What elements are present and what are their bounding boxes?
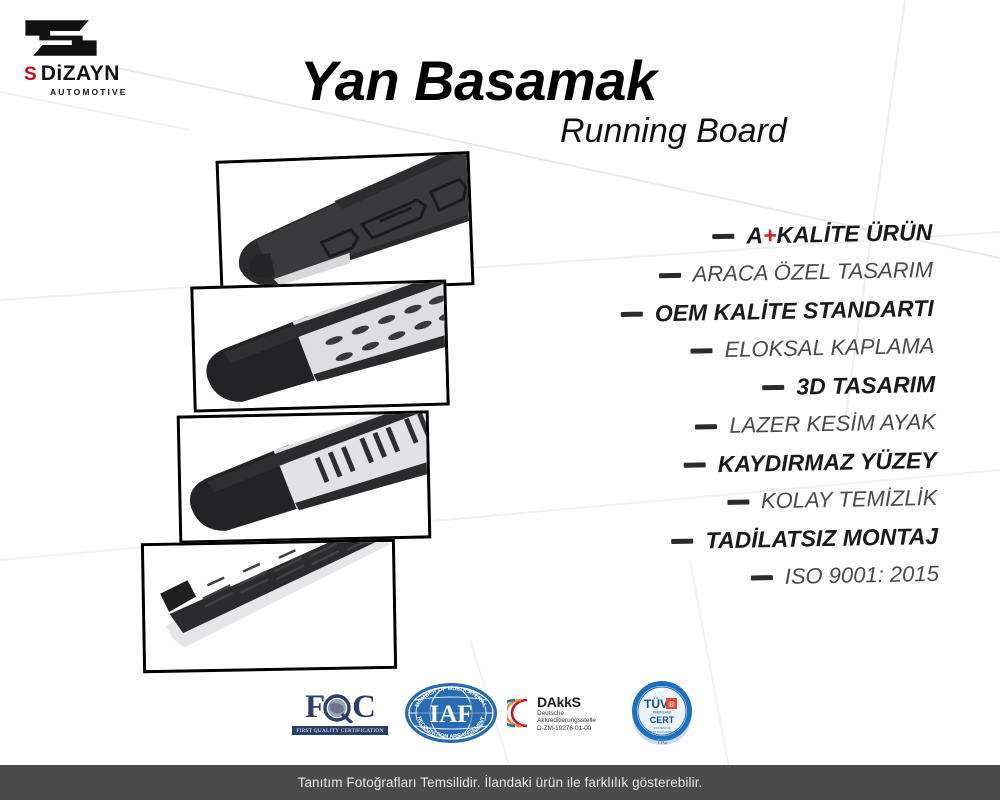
dakks-arcs-icon bbox=[507, 696, 533, 730]
feature-label: KAYDIRMAZ YÜZEY bbox=[717, 446, 936, 477]
dakks-certification-logo: DAkkS Deutsche Akkreditierungsstelle D-Z… bbox=[507, 687, 617, 739]
certification-badges: F C FIRST QUALITY CERTIFICATION bbox=[285, 678, 699, 748]
brand-name: DiZAYN bbox=[41, 63, 120, 84]
feature-label: ELOKSAL KAPLAMA bbox=[724, 333, 934, 363]
iaf-certification-logo: IAF MEMBER OF MULTILATERAL RECOGNITION A… bbox=[403, 680, 499, 746]
feature-text-after: KALİTE ÜRÜN bbox=[776, 218, 932, 247]
feature-label: OEM KALİTE STANDARTI bbox=[655, 294, 934, 326]
dakks-line-3: D-ZM-19276-01-00 bbox=[537, 725, 596, 732]
product-image-3 bbox=[177, 410, 432, 543]
feature-item-10: ISO 9001: 2015 bbox=[469, 555, 940, 602]
s-monogram-icon bbox=[22, 14, 100, 62]
feature-label: TADİLATSIZ MONTAJ bbox=[705, 522, 938, 553]
footer-disclaimer: Tanıtım Fotoğrafları Temsilidir. İlandak… bbox=[298, 775, 703, 790]
tuv-cert-label: CERT bbox=[650, 715, 675, 725]
iaf-letters: IAF bbox=[429, 701, 472, 728]
dakks-text-block: DAkkS Deutsche Akkreditierungsstelle D-Z… bbox=[537, 694, 596, 732]
bullet-dash-icon bbox=[672, 538, 694, 543]
globe-icon bbox=[323, 693, 353, 723]
bullet-dash-icon bbox=[727, 499, 749, 504]
tuv-certification-logo: ZERTIFIZIERUNGSSTELLE TÜV ® RHEINLAND CE… bbox=[625, 678, 699, 748]
product-image-2 bbox=[190, 279, 449, 412]
tuv-bottom-label: TIC bbox=[656, 739, 667, 746]
bullet-dash-icon bbox=[762, 384, 784, 389]
page-title: Yan Basamak bbox=[300, 48, 657, 113]
tuv-region: RHEINLAND bbox=[653, 711, 672, 715]
page-subtitle: Running Board bbox=[560, 112, 787, 151]
feature-list: A+KALİTE ÜRÜN ARACA ÖZEL TASARIM OEM KAL… bbox=[462, 213, 939, 602]
product-banner: S DiZAYN AUTOMOTIVE Yan Basamak Running … bbox=[0, 0, 1000, 800]
fqc-letters: F C bbox=[305, 691, 375, 724]
brand-subtitle: AUTOMOTIVE bbox=[22, 87, 172, 97]
bullet-dash-icon bbox=[691, 348, 713, 353]
bullet-dash-icon bbox=[621, 311, 643, 316]
dakks-name: DAkkS bbox=[537, 694, 596, 710]
bullet-dash-icon bbox=[684, 462, 706, 467]
tuv-name: TÜV bbox=[644, 696, 668, 711]
fqc-tagline: FIRST QUALITY CERTIFICATION bbox=[296, 728, 383, 734]
brand-wordmark: S DiZAYN bbox=[22, 63, 172, 84]
plus-accent: + bbox=[763, 221, 777, 247]
fqc-certification-logo: F C FIRST QUALITY CERTIFICATION bbox=[285, 684, 395, 742]
feature-label: 3D TASARIM bbox=[796, 370, 935, 400]
svg-text:®: ® bbox=[669, 700, 675, 709]
brand-prefix: S bbox=[24, 65, 36, 84]
product-image-4 bbox=[141, 539, 397, 673]
fqc-tagline-bar: FIRST QUALITY CERTIFICATION bbox=[292, 726, 388, 735]
fqc-letter-f: F bbox=[305, 691, 324, 724]
feature-label: LAZER KESİM AYAK bbox=[729, 409, 936, 439]
dakks-line-2: Akkreditierungsstelle bbox=[537, 717, 596, 724]
svg-text:CERTIFICATION BODY: CERTIFICATION BODY bbox=[646, 730, 678, 734]
brand-logo: S DiZAYN AUTOMOTIVE bbox=[22, 14, 172, 97]
feature-label: ARACA ÖZEL TASARIM bbox=[692, 257, 933, 288]
bullet-dash-icon bbox=[695, 424, 717, 429]
feature-text-before: A bbox=[746, 222, 763, 248]
dakks-line-1: Deutsche bbox=[537, 710, 596, 717]
feature-label: KOLAY TEMİZLİK bbox=[761, 485, 938, 514]
fqc-letter-c: C bbox=[352, 691, 375, 724]
feature-label: A+KALİTE ÜRÜN bbox=[746, 218, 932, 249]
bullet-dash-icon bbox=[659, 272, 681, 277]
footer-bar: Tanıtım Fotoğrafları Temsilidir. İlandak… bbox=[0, 765, 1000, 800]
product-image-1 bbox=[216, 151, 475, 295]
bullet-dash-icon bbox=[751, 575, 773, 580]
bullet-dash-icon bbox=[712, 233, 734, 238]
feature-label: ISO 9001: 2015 bbox=[784, 561, 939, 590]
